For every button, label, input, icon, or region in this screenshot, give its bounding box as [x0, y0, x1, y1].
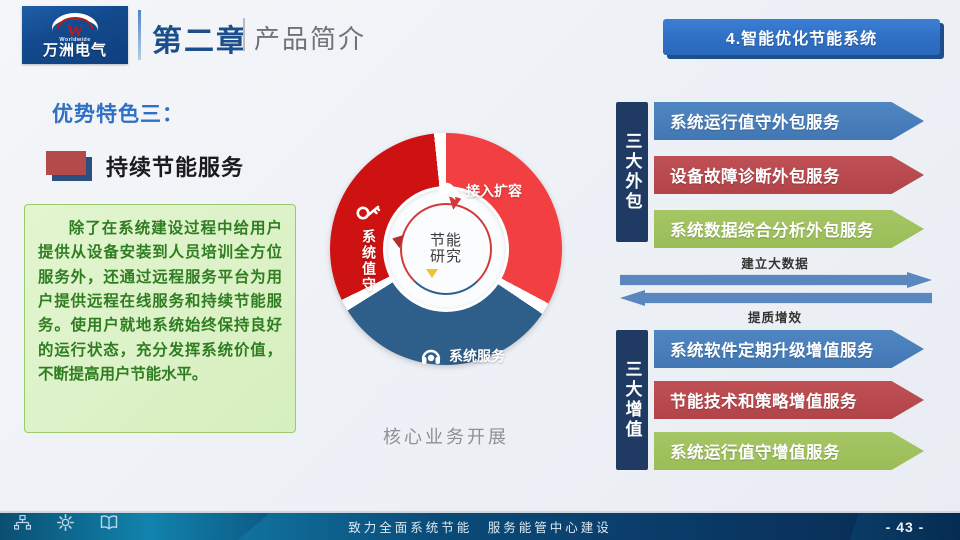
valueadd-item-2[interactable]: 节能技术和策略增值服务: [654, 381, 924, 419]
valueadd-vertical-label-text: 三大增值: [620, 360, 645, 440]
logo-cn-text: 万洲电气: [43, 43, 107, 59]
banner-label: 4.智能优化节能系统: [726, 25, 877, 49]
arrow-left-icon: [620, 290, 932, 306]
outsourcing-vertical-label: 三大外包: [616, 102, 648, 242]
outsourcing-item-2-label: 设备故障诊断外包服务: [654, 163, 840, 187]
donut-center-text: 节能 研究: [386, 189, 506, 309]
company-logo: W Worldwide 万洲电气: [22, 6, 128, 64]
middle-arrows: 建立大数据 提质增效: [610, 253, 940, 319]
section-banner: 4.智能优化节能系统: [663, 19, 940, 55]
donut-segment-access-label: 接入扩容: [466, 181, 522, 201]
page-number: - 43 -: [850, 513, 960, 540]
arrow-right-icon: [620, 272, 932, 288]
page-title: 产品简介: [254, 19, 366, 56]
valueadd-item-2-label: 节能技术和策略增值服务: [654, 388, 857, 412]
outsourcing-item-1-label: 系统运行值守外包服务: [654, 109, 840, 133]
donut-center-line1: 节能: [430, 233, 462, 249]
outsourcing-item-3[interactable]: 系统数据综合分析外包服务: [654, 210, 924, 248]
banner-body: 4.智能优化节能系统: [663, 19, 940, 55]
footer-bar: 致力全面系统节能 服务能管中心建设 - 43 -: [0, 513, 960, 540]
header-separator: [243, 18, 245, 50]
footer-slogan: 致力全面系统节能 服务能管中心建设: [0, 517, 960, 536]
feature-heading: 持续节能服务: [46, 150, 244, 182]
headset-icon: [420, 345, 442, 367]
donut-segment-duty: 系统值守: [356, 205, 382, 293]
square-bullet-icon: [46, 151, 92, 181]
slide: W Worldwide 万洲电气 第二章 产品简介 4.智能优化节能系统 优势特…: [0, 0, 960, 540]
outsourcing-item-3-label: 系统数据综合分析外包服务: [654, 217, 874, 241]
valueadd-vertical-label: 三大增值: [616, 330, 648, 470]
valueadd-item-3-label: 系统运行值守增值服务: [654, 439, 840, 463]
outsourcing-item-2[interactable]: 设备故障诊断外包服务: [654, 156, 924, 194]
middle-arrow-top-label: 建立大数据: [610, 253, 940, 272]
chapter-title: 第二章: [152, 16, 248, 60]
description-text: 除了在系统建设过程中给用户提供从设备安装到人员培训全方位服务外，还通过远程服务平…: [38, 217, 282, 387]
valueadd-item-1[interactable]: 系统软件定期升级增值服务: [654, 330, 924, 368]
donut-caption: 核心业务开展: [383, 423, 509, 449]
svg-text:W: W: [67, 21, 84, 38]
header-divider-bar: [138, 10, 141, 60]
middle-arrow-bottom-label: 提质增效: [610, 307, 940, 326]
outsourcing-vertical-label-text: 三大外包: [620, 132, 645, 212]
feature-label: 持续节能服务: [106, 150, 244, 182]
description-box: 除了在系统建设过程中给用户提供从设备安装到人员培训全方位服务外，还通过远程服务平…: [24, 204, 296, 433]
donut-center-line2: 研究: [430, 249, 462, 265]
donut-segment-duty-label: 系统值守: [359, 229, 379, 293]
valueadd-item-1-label: 系统软件定期升级增值服务: [654, 337, 874, 361]
donut-segment-access: 接入扩容: [437, 181, 522, 201]
donut-segment-service-label: 系统服务: [449, 346, 505, 366]
valueadd-item-3[interactable]: 系统运行值守增值服务: [654, 432, 924, 470]
outsourcing-item-1[interactable]: 系统运行值守外包服务: [654, 102, 924, 140]
chat-bubble-icon: [437, 181, 459, 201]
square-bullet-front: [46, 151, 86, 175]
donut-segment-service: 系统服务: [420, 345, 505, 367]
key-icon: [356, 205, 382, 225]
advantage-title: 优势特色三：: [52, 98, 184, 128]
page-number-text: - 43 -: [886, 519, 925, 535]
w-emblem-icon: W: [48, 12, 102, 38]
donut-hole: 节能 研究: [386, 189, 506, 309]
